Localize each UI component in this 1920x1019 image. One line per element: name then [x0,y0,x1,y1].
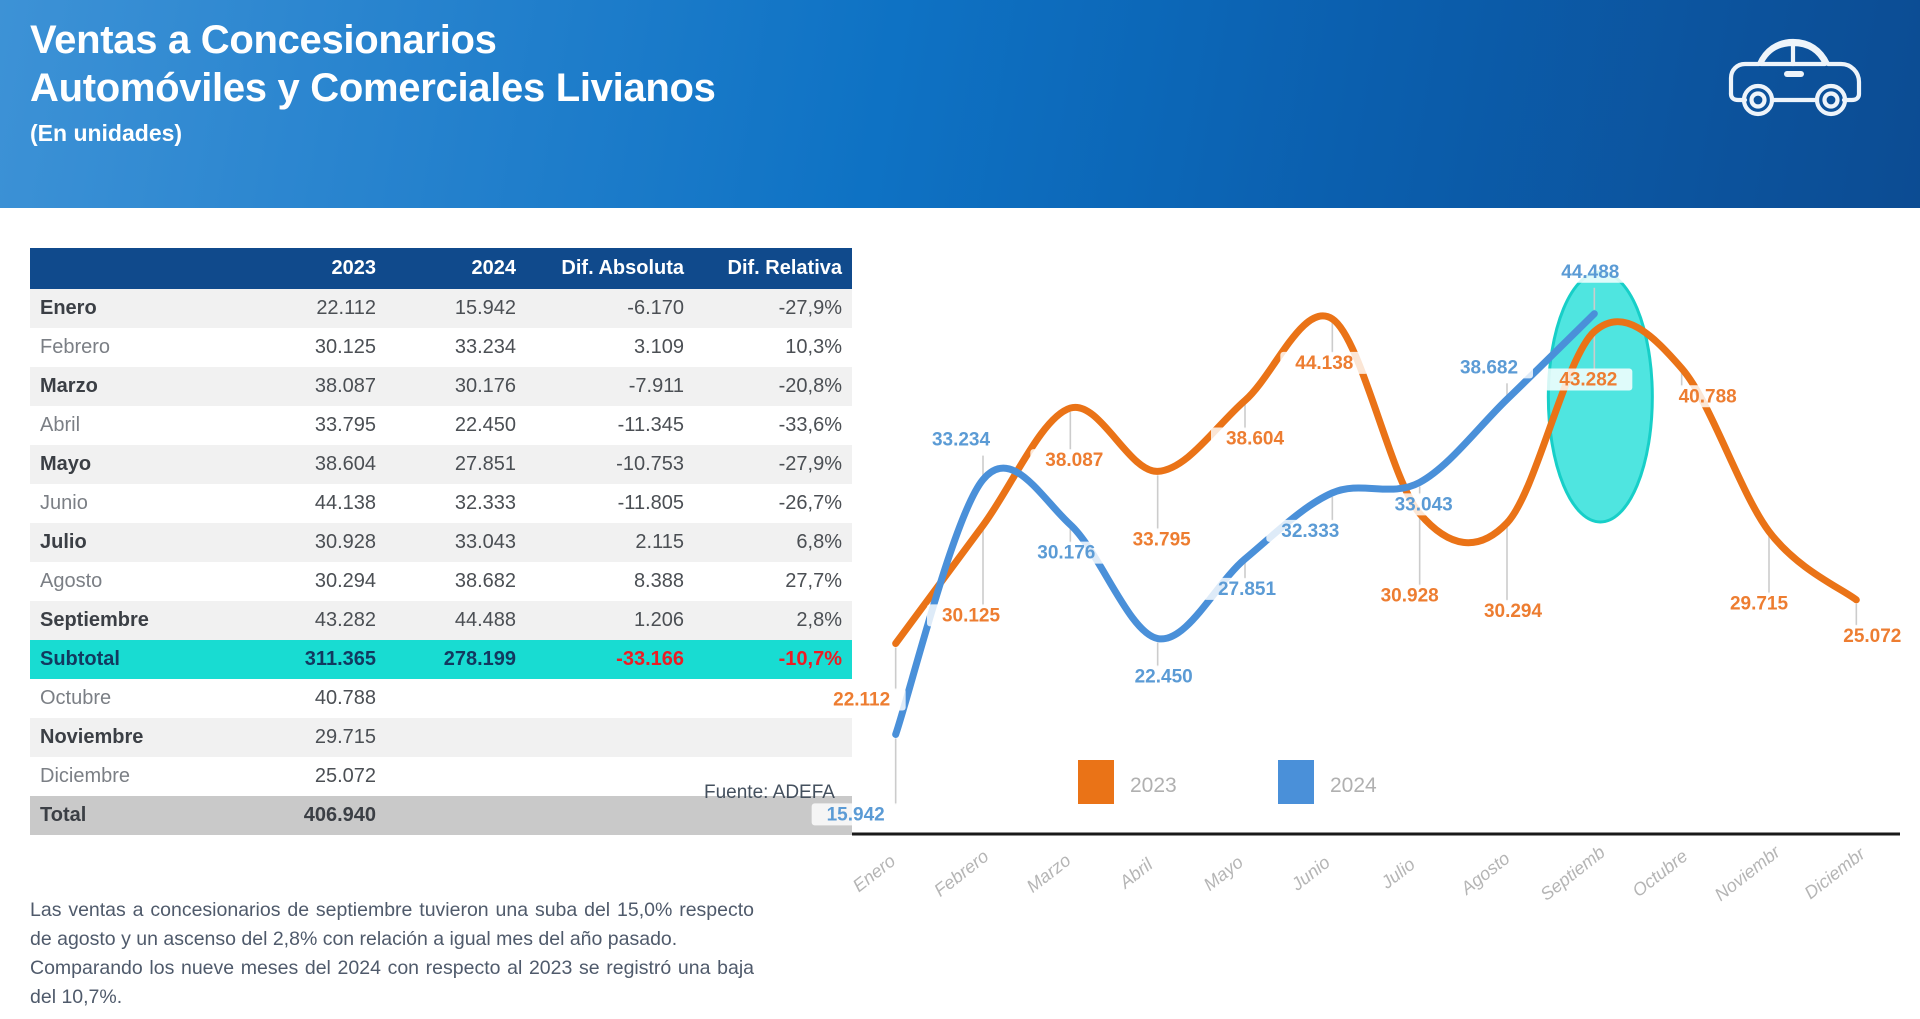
cell-2023: 311.365 [246,640,386,679]
page-header: Ventas a Concesionarios Automóviles y Co… [0,0,1920,208]
page-title-line2: Automóviles y Comerciales Livianos [30,64,716,112]
cell-2024: 27.851 [386,445,526,484]
cell-2024: 44.488 [386,601,526,640]
cell-2023: 44.138 [246,484,386,523]
cell-2023: 43.282 [246,601,386,640]
data-label-2023-Enero: 22.112 [833,690,890,711]
x-axis-tick-Marzo: Marzo [1023,850,1075,897]
cell-month: Octubre [30,679,246,718]
table-row: Noviembre29.715 [30,718,852,757]
col-header-2023: 2023 [246,248,386,289]
cell-month: Febrero [30,328,246,367]
table-row: Septiembre43.28244.4881.2062,8% [30,601,852,640]
cell-month: Marzo [30,367,246,406]
header-title-block: Ventas a Concesionarios Automóviles y Co… [30,16,716,150]
data-label-2024-Mayo: 27.851 [1218,579,1277,600]
x-axis-tick-Mayo: Mayo [1200,852,1247,895]
cell-month: Septiembre [30,601,246,640]
cell-2023: 40.788 [246,679,386,718]
cell-2024 [386,679,526,718]
table-row: Junio44.13832.333-11.805-26,7% [30,484,852,523]
cell-2024: 33.043 [386,523,526,562]
cell-2023: 38.604 [246,445,386,484]
cell-2024 [386,718,526,757]
table-row: Agosto30.29438.6828.38827,7% [30,562,852,601]
cell-2023: 22.112 [246,289,386,328]
x-axis-tick-Julio: Julio [1376,854,1418,893]
data-label-2024-Agosto: 38.682 [1460,357,1518,378]
cell-month: Total [30,796,246,835]
cell-month: Abril [30,406,246,445]
cell-2024: 30.176 [386,367,526,406]
cell-dif-absoluta: -11.345 [526,406,694,445]
cell-dif-absoluta: -7.911 [526,367,694,406]
data-label-2024-Marzo: 30.176 [1037,543,1095,564]
cell-2023: 30.928 [246,523,386,562]
data-label-2023-Septiemb: 43.282 [1559,370,1617,391]
table-head: 2023 2024 Dif. Absoluta Dif. Relativa [30,248,852,289]
x-axis-tick-Noviembr: Noviembr [1711,841,1785,905]
data-label-2023-Noviembr: 29.715 [1730,593,1789,614]
cell-dif-absoluta: 3.109 [526,328,694,367]
cell-dif-absoluta [526,718,694,757]
table-row: Marzo38.08730.176-7.911-20,8% [30,367,852,406]
table-row: Julio30.92833.0432.1156,8% [30,523,852,562]
data-label-2023-Diciembr: 25.072 [1843,626,1901,647]
col-header-month [30,248,246,289]
x-axis-tick-Junio: Junio [1287,852,1334,895]
car-icon [1725,28,1865,123]
chart-legend: 20232024 [998,752,1638,812]
data-label-2024-Febrero: 33.234 [932,430,991,451]
table-row: Enero22.11215.942-6.170-27,9% [30,289,852,328]
table-body: Enero22.11215.942-6.170-27,9%Febrero30.1… [30,289,852,835]
cell-2023: 33.795 [246,406,386,445]
chart-source: Fuente: ADEFA [704,782,1004,804]
cell-2023: 30.125 [246,328,386,367]
table-row: Abril33.79522.450-11.345-33,6% [30,406,852,445]
cell-2023: 406.940 [246,796,386,835]
x-axis-tick-Abril: Abril [1115,854,1157,893]
cell-dif-absoluta: -11.805 [526,484,694,523]
data-label-2023-Mayo: 38.604 [1226,428,1285,449]
cell-month: Junio [30,484,246,523]
chart-axis: EneroFebreroMarzoAbrilMayoJunioJulioAgos… [790,822,1920,982]
data-label-2024-Septiemb: 44.488 [1561,262,1619,283]
cell-dif-absoluta [526,796,694,835]
sales-table: 2023 2024 Dif. Absoluta Dif. Relativa En… [30,248,852,835]
cell-2024: 33.234 [386,328,526,367]
x-axis-tick-Enero: Enero [849,851,899,896]
legend-swatch-2024 [1278,760,1314,804]
cell-2024: 22.450 [386,406,526,445]
col-header-2024: 2024 [386,248,526,289]
cell-2024 [386,796,526,835]
data-label-2023-Febrero: 30.125 [942,605,1001,626]
x-axis-tick-Agosto: Agosto [1456,848,1513,899]
data-label-2024-Julio: 33.043 [1395,494,1453,515]
cell-2024 [386,757,526,796]
sales-line-chart: 22.11230.12538.08733.79538.60444.13830.9… [790,222,1920,1019]
legend-label-2023: 2023 [1130,774,1177,797]
cell-dif-absoluta: 1.206 [526,601,694,640]
data-label-2023-Octubre: 40.788 [1679,386,1737,407]
cell-month: Subtotal [30,640,246,679]
cell-dif-absoluta: 8.388 [526,562,694,601]
cell-2023: 29.715 [246,718,386,757]
legend-label-2024: 2024 [1330,774,1377,797]
note-paragraph-2: Comparando los nueve meses del 2024 con … [30,954,754,1012]
table-header-row: 2023 2024 Dif. Absoluta Dif. Relativa [30,248,852,289]
note-paragraph-1: Las ventas a concesionarios de septiembr… [30,896,754,954]
sales-table-container: 2023 2024 Dif. Absoluta Dif. Relativa En… [30,248,752,835]
page-title-line1: Ventas a Concesionarios [30,16,716,64]
cell-month: Enero [30,289,246,328]
data-label-2024-Abril: 22.450 [1135,667,1193,688]
col-header-dif-absoluta: Dif. Absoluta [526,248,694,289]
cell-month: Agosto [30,562,246,601]
x-axis-tick-Febrero: Febrero [930,846,992,901]
cell-2023: 30.294 [246,562,386,601]
legend-swatch-2023 [1078,760,1114,804]
cell-dif-absoluta: -6.170 [526,289,694,328]
data-label-2023-Junio: 44.138 [1295,353,1353,374]
cell-dif-absoluta [526,679,694,718]
cell-2023: 25.072 [246,757,386,796]
x-axis-tick-Septiemb: Septiemb [1537,842,1609,905]
cell-2023: 38.087 [246,367,386,406]
cell-month: Mayo [30,445,246,484]
cell-month: Julio [30,523,246,562]
cell-dif-absoluta: -33.166 [526,640,694,679]
cell-2024: 15.942 [386,289,526,328]
table-row: Febrero30.12533.2343.10910,3% [30,328,852,367]
page-subtitle: (En unidades) [30,116,716,150]
cell-dif-absoluta: -10.753 [526,445,694,484]
cell-2024: 38.682 [386,562,526,601]
cell-dif-absoluta [526,757,694,796]
cell-month: Noviembre [30,718,246,757]
table-row: Mayo38.60427.851-10.753-27,9% [30,445,852,484]
data-label-2023-Agosto: 30.294 [1484,601,1543,622]
x-axis-tick-Octubre: Octubre [1629,846,1692,901]
table-row: Octubre40.788 [30,679,852,718]
table-row: Subtotal311.365278.199-33.166-10,7% [30,640,852,679]
data-label-2023-Abril: 33.795 [1133,529,1192,550]
data-label-2023-Marzo: 38.087 [1045,450,1103,471]
data-label-2023-Julio: 30.928 [1381,586,1439,607]
cell-2024: 278.199 [386,640,526,679]
note-block: Las ventas a concesionarios de septiembr… [30,896,754,1012]
cell-dif-absoluta: 2.115 [526,523,694,562]
data-label-2024-Junio: 32.333 [1281,521,1339,542]
cell-month: Diciembre [30,757,246,796]
cell-2024: 32.333 [386,484,526,523]
x-axis-tick-Diciembr: Diciembr [1801,843,1870,903]
